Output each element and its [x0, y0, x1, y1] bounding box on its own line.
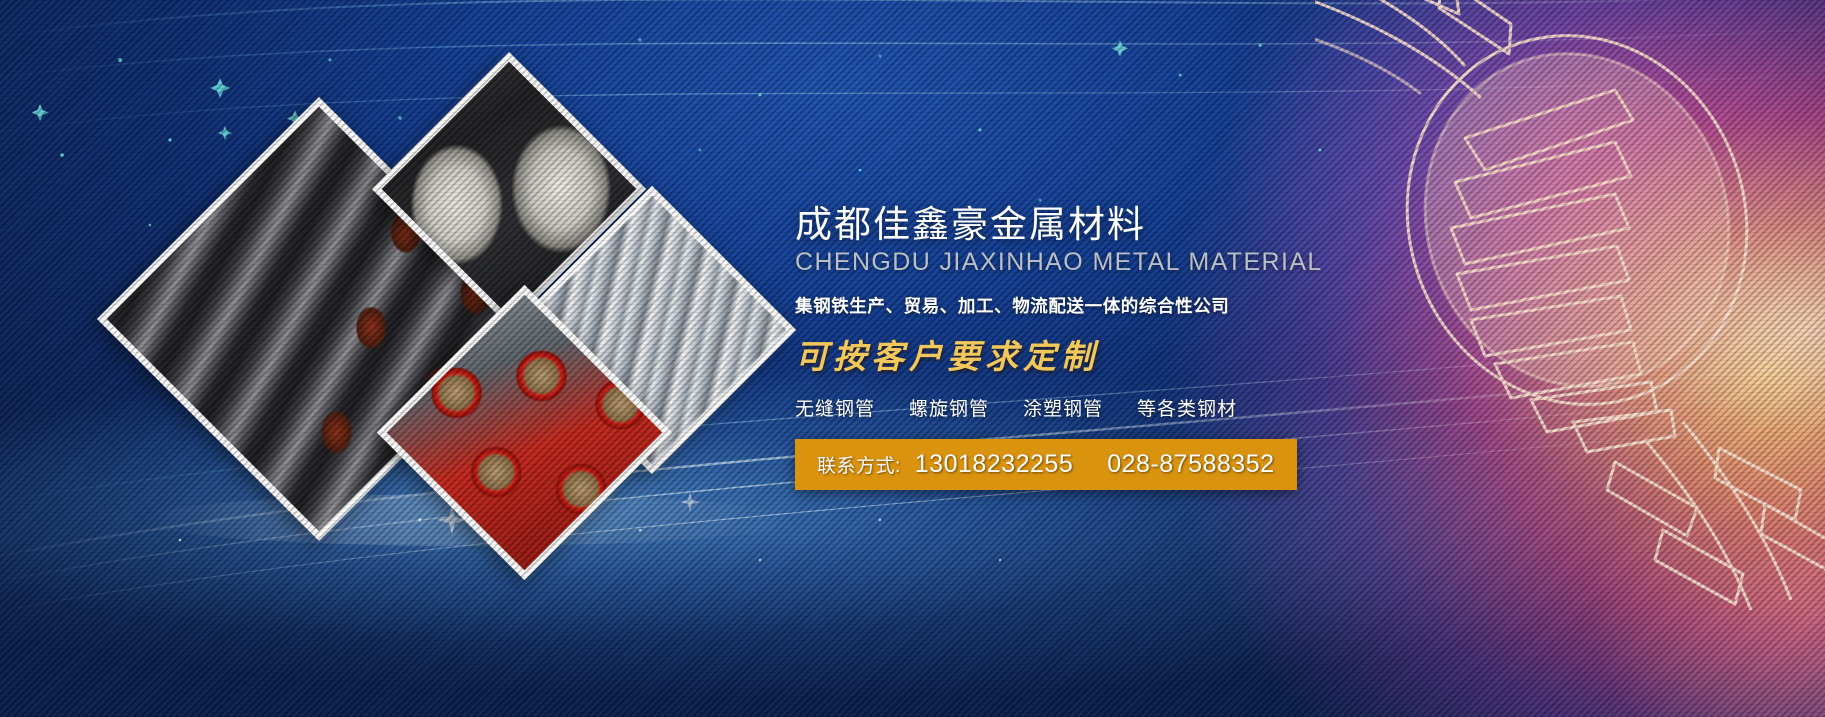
- banner-text-block: 成都佳鑫豪金属材料 CHENGDU JIAXINHAO METAL MATERI…: [795, 205, 1435, 490]
- contact-label: 联系方式:: [817, 451, 901, 478]
- contact-bar[interactable]: 联系方式: 13018232255 028-87588352: [795, 439, 1297, 490]
- product-item-spiral: 螺旋钢管: [909, 394, 989, 421]
- product-category-list: 无缝钢管 螺旋钢管 涂塑钢管 等各类钢材: [795, 394, 1435, 421]
- product-item-other: 等各类钢材: [1137, 394, 1237, 421]
- product-item-seamless: 无缝钢管: [795, 394, 875, 421]
- company-tagline: 集钢铁生产、贸易、加工、物流配送一体的综合性公司: [795, 293, 1435, 318]
- custom-order-slogan: 可按客户要求定制: [795, 330, 1435, 378]
- company-name-cn: 成都佳鑫豪金属材料: [795, 205, 1435, 244]
- contact-phone-landline[interactable]: 028-87588352: [1107, 450, 1274, 479]
- promo-banner: 成都佳鑫豪金属材料 CHENGDU JIAXINHAO METAL MATERI…: [0, 0, 1825, 717]
- company-name-en: CHENGDU JIAXINHAO METAL MATERIAL: [795, 248, 1435, 277]
- contact-phone-mobile[interactable]: 13018232255: [915, 450, 1073, 479]
- product-item-coated: 涂塑钢管: [1023, 394, 1103, 421]
